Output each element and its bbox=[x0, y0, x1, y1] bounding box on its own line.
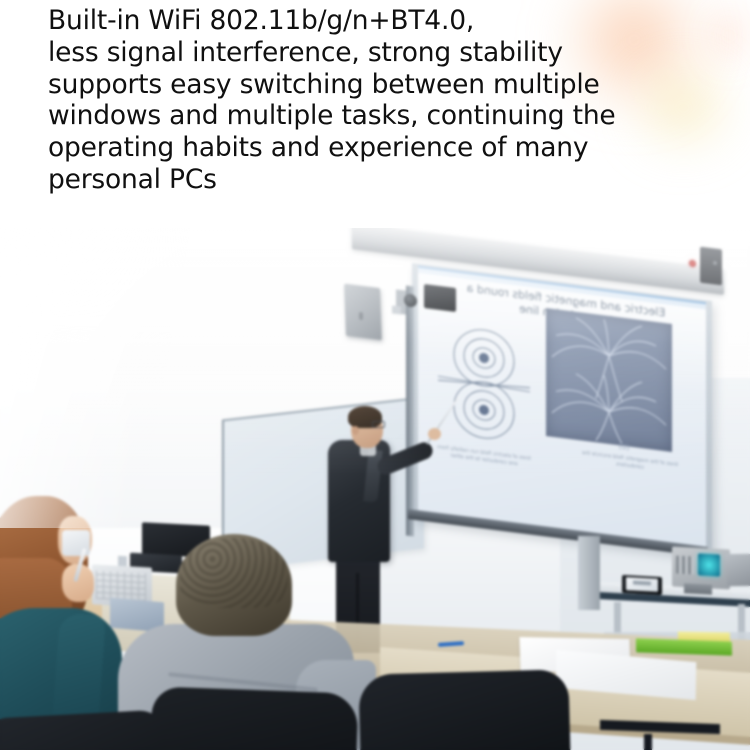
headline-line-2: less signal interference, strong stabili… bbox=[48, 37, 708, 69]
headline-line-6: personal PCs bbox=[48, 164, 708, 196]
headline-line-4: windows and multiple tasks, continuing t… bbox=[48, 100, 708, 132]
product-banner: Built-in WiFi 802.11b/g/n+BT4.0, less si… bbox=[0, 0, 750, 750]
classroom-lecture-photo: Electric and magnetic fields round a tra… bbox=[0, 228, 750, 750]
photo-left-fade bbox=[0, 228, 220, 528]
headline-line-5: operating habits and experience of many bbox=[48, 132, 708, 164]
feature-description-text: Built-in WiFi 802.11b/g/n+BT4.0, less si… bbox=[48, 5, 708, 196]
headline-line-1: Built-in WiFi 802.11b/g/n+BT4.0, bbox=[48, 5, 708, 37]
headline-line-3: supports easy switching between multiple bbox=[48, 69, 708, 101]
